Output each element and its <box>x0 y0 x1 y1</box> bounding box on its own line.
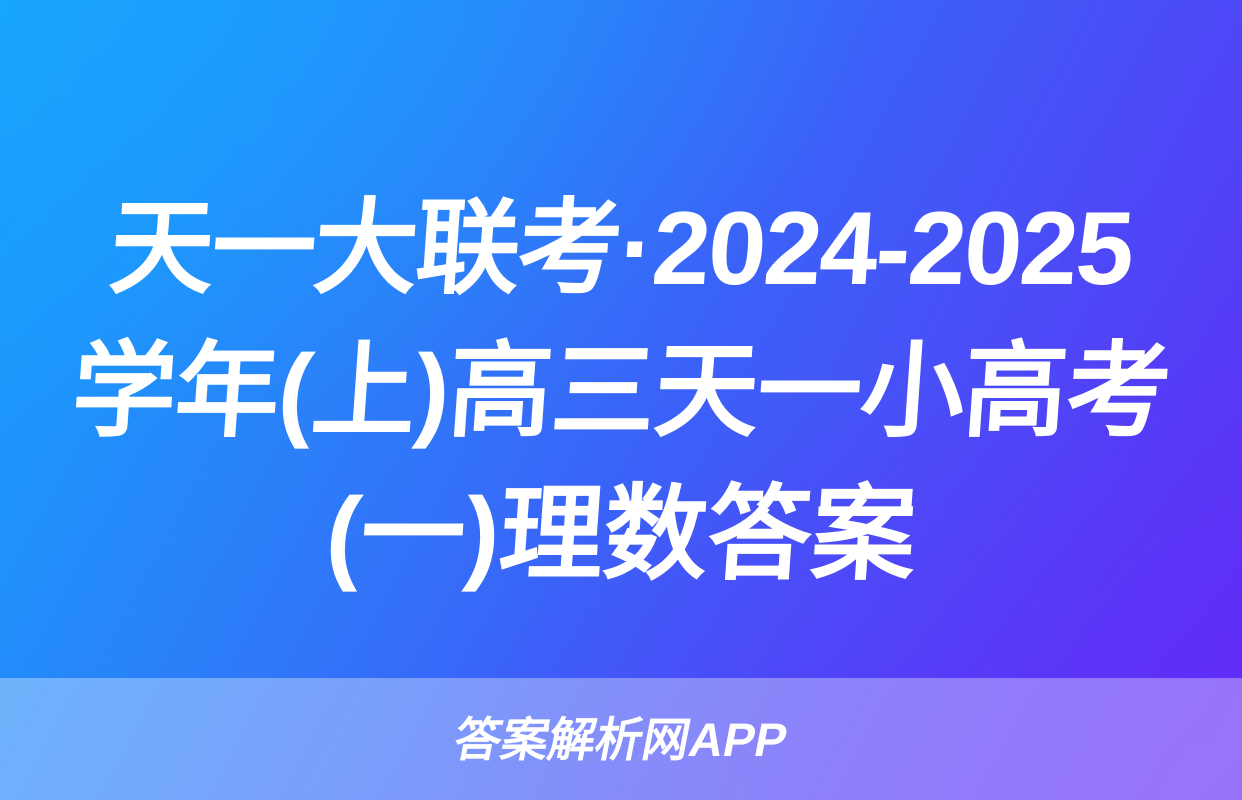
footer-watermark-text: 答案解析网APP <box>451 716 792 763</box>
headline-line-3: (一)理数答案 <box>41 464 1201 607</box>
footer-watermark-band: 答案解析网APP <box>0 678 1242 800</box>
poster-headline: 天一大联考·2024-2025 学年(上)高三天一小高考 (一)理数答案 <box>0 178 1242 607</box>
exam-answer-poster: 天一大联考·2024-2025 学年(上)高三天一小高考 (一)理数答案 答案解… <box>0 0 1242 800</box>
headline-line-1: 天一大联考·2024-2025 <box>41 178 1201 321</box>
headline-line-2: 学年(上)高三天一小高考 <box>41 321 1201 464</box>
